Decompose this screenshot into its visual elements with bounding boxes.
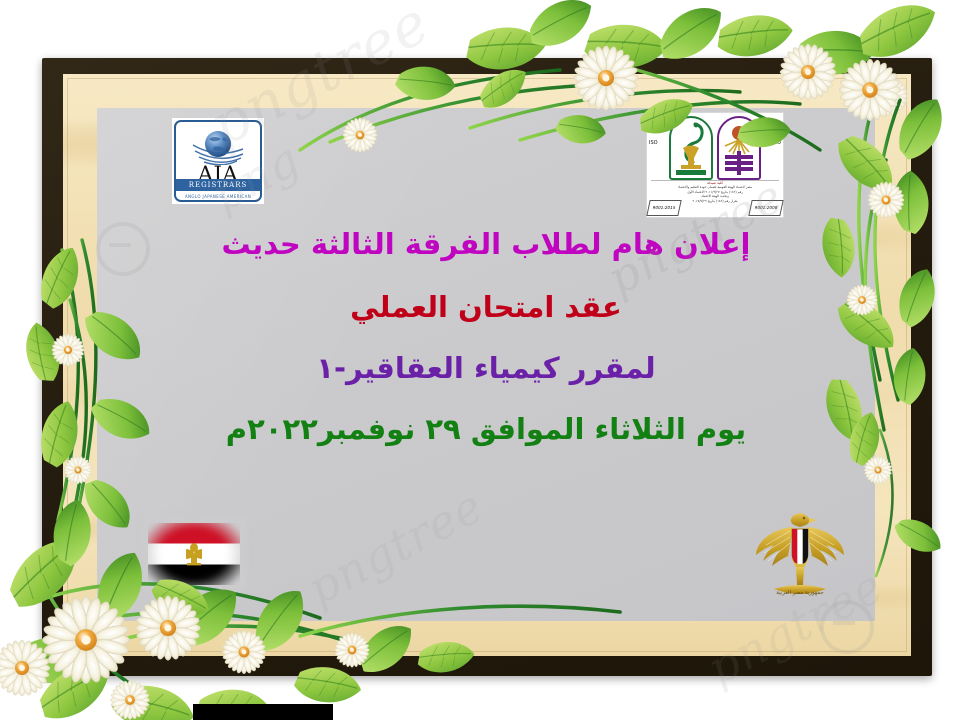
iso-9001-2015-badge: 9001:2015 [646, 200, 681, 216]
scroll-text: جمهورية مصر العربية [776, 590, 823, 596]
crest-pair [647, 116, 783, 182]
assiut-university-pharmacy-logo: ISO ISO كلية صيدلة مصر لاعتماد الهيئة ال… [646, 112, 784, 218]
bottom-black-bar [193, 704, 333, 720]
assiut-university-crest-icon [717, 116, 761, 180]
eagle-of-saladin-emblem-icon: جمهورية مصر العربية [752, 505, 848, 607]
egypt-coat-of-arms: جمهورية مصر العربية [752, 505, 848, 607]
aja-registrars-logo: AJA REGISTRARS ANGLO JAPANESE AMERICAN [172, 118, 264, 204]
announcement-line-3: لمقرر كيمياء العقاقير-١ [97, 354, 875, 383]
poster-root: pngtree png pngtree pngtree pngtree [0, 0, 960, 720]
announcement-line-2: عقد امتحان العملي [97, 293, 875, 322]
aja-subtitle: ANGLO JAPANESE AMERICAN [176, 194, 260, 199]
faculty-of-pharmacy-crest-icon [669, 116, 713, 180]
iso-tag-right: ISO [772, 140, 781, 146]
iso-tag-left: ISO [649, 140, 658, 146]
iso-9001-2008-badge: 9001:2008 [748, 200, 783, 216]
egypt-flag-icon [148, 523, 240, 585]
announcement-line-1: إعلان هام لطلاب الفرقة الثالثة حديث [97, 230, 875, 259]
aja-registrars-band: REGISTRARS [176, 179, 260, 191]
announcement-line-4: يوم الثلاثاء الموافق ٢٩ نوفمبر٢٠٢٢م [97, 415, 875, 444]
announcement-text-block: إعلان هام لطلاب الفرقة الثالثة حديث عقد … [97, 230, 875, 444]
flag-edge-blur [142, 517, 246, 591]
aja-logo-inner: AJA REGISTRARS ANGLO JAPANESE AMERICAN [174, 120, 262, 202]
